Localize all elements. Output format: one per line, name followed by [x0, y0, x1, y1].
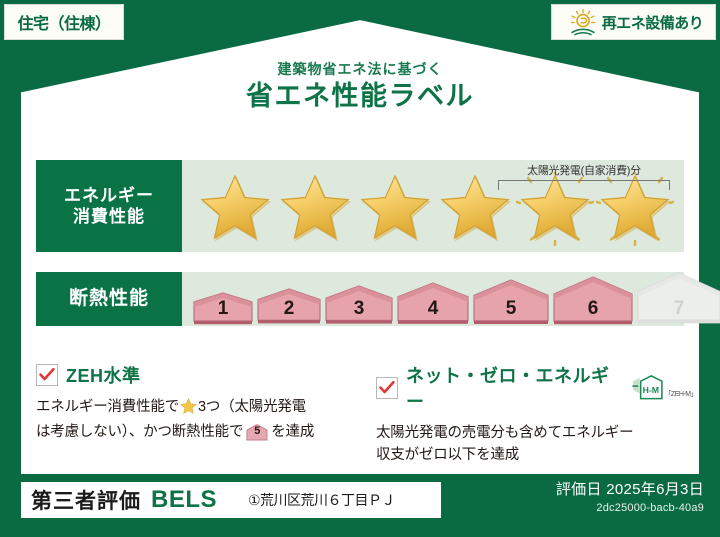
solar-sun-icon [568, 8, 598, 36]
insulation-grade-2: 2 [256, 287, 322, 326]
criterion-zeh-title: ZEH水準 [66, 362, 141, 388]
record-id: 2dc25000-bacb-40a9 [404, 502, 704, 514]
energy-performance-key: エネルギー 消費性能 [36, 160, 182, 252]
insulation-grade-5: 5 [472, 278, 550, 327]
insulation-grade-label: 4 [396, 298, 470, 320]
bels-logo-text: BELS [151, 486, 217, 514]
insulation-grade-inline-icon: 5 [245, 423, 269, 441]
label-title: 省エネ性能ラベル [0, 82, 720, 112]
check-icon [36, 364, 58, 386]
insulation-grade-6: 6 [552, 275, 634, 327]
insulation-grade-label: 1 [192, 298, 254, 320]
insulation-grade-7: 7 [636, 271, 720, 326]
evaluation-date-value: 2025年6月3日 [606, 481, 704, 498]
insulation-grade-inline-label: 5 [245, 423, 269, 440]
insulation-key-label: 断熱性能 [69, 287, 149, 311]
insulation-performance-key: 断熱性能 [36, 272, 182, 326]
third-party-label: 第三者評価 [31, 485, 141, 515]
criterion-zeh: ZEH水準 エネルギー消費性能で3つ（太陽光発電 は考慮しない）、かつ断熱性能で… [36, 362, 366, 444]
evaluation-date: 評価日 2025年6月3日 [404, 478, 704, 499]
zeh-m-logo-caption: 「ZEH-M」 [664, 389, 696, 401]
criterion-zeh-text-1: エネルギー消費性能で [36, 399, 179, 415]
insulation-grade-label: 5 [472, 298, 550, 320]
criterion-net-zero: ネット・ゼロ・エネルギー H-M 「ZEH-M」 太陽光発電の売電分も含めてエネ… [376, 362, 696, 467]
label-subtitle: 建築物省エネ法に基づく [0, 62, 720, 77]
criterion-net-zero-line2: 収支がゼロ以下を達成 [376, 447, 519, 463]
bels-energy-label: 住宅（住棟） 再エネ設備あり 建築 [0, 0, 720, 537]
criterion-net-zero-header: ネット・ゼロ・エネルギー H-M 「ZEH-M」 [376, 362, 696, 414]
property-address: ①荒川区荒川６丁目ＰＪ [248, 482, 395, 518]
building-type-badge: 住宅（住棟） [4, 4, 124, 40]
star-icon [276, 172, 354, 246]
energy-performance-value: 太陽光発電(自家消費)分 [182, 160, 684, 252]
criterion-zeh-text-2: 3つ（太陽光発電 [198, 399, 306, 415]
star-icon [180, 398, 197, 421]
star-icon-solar [516, 172, 594, 246]
star-icon-solar [596, 172, 674, 246]
insulation-grade-4: 4 [396, 281, 470, 327]
zeh-m-logo-text: H-M [642, 385, 658, 395]
insulation-grade-label: 2 [256, 298, 322, 320]
criterion-zeh-text-4: を達成 [271, 424, 314, 440]
zeh-m-logo: H-M 「ZEH-M」 [631, 375, 696, 401]
criterion-zeh-text-3: は考慮しない）、かつ断熱性能で [36, 424, 243, 440]
check-icon [376, 377, 398, 399]
criterion-net-zero-title: ネット・ゼロ・エネルギー [406, 362, 621, 414]
renewable-equipment-badge: 再エネ設備あり [551, 4, 716, 40]
insulation-performance-row: 断熱性能 1234567 [36, 272, 684, 326]
label-title-block: 建築物省エネ法に基づく 省エネ性能ラベル [0, 62, 720, 112]
energy-performance-row: エネルギー 消費性能 太陽光発電(自家消費)分 [36, 160, 684, 252]
star-icon [436, 172, 514, 246]
energy-key-line1: エネルギー [64, 185, 154, 206]
criterion-net-zero-body: 太陽光発電の売電分も含めてエネルギー 収支がゼロ以下を達成 [376, 422, 696, 467]
insulation-grade-label: 3 [324, 298, 394, 320]
insulation-grade-3: 3 [324, 284, 394, 326]
insulation-grade-label: 7 [636, 298, 720, 320]
criterion-zeh-body: エネルギー消費性能で3つ（太陽光発電 は考慮しない）、かつ断熱性能で5を達成 [36, 396, 366, 444]
footer-evaluation-meta: 評価日 2025年6月3日 2dc25000-bacb-40a9 [404, 478, 704, 514]
insulation-grade-label: 6 [552, 298, 634, 320]
insulation-grade-scale: 1234567 [182, 271, 720, 326]
insulation-performance-value: 1234567 [182, 272, 720, 326]
energy-star-rating [182, 172, 674, 246]
energy-key-line2: 消費性能 [73, 206, 145, 227]
evaluation-date-label: 評価日 [556, 481, 602, 498]
star-icon [196, 172, 274, 246]
criterion-zeh-header: ZEH水準 [36, 362, 366, 388]
star-icon [356, 172, 434, 246]
criterion-net-zero-line1: 太陽光発電の売電分も含めてエネルギー [376, 425, 633, 441]
renewable-equipment-label: 再エネ設備あり [602, 12, 704, 33]
insulation-grade-1: 1 [192, 291, 254, 327]
building-type-label: 住宅（住棟） [17, 10, 110, 34]
